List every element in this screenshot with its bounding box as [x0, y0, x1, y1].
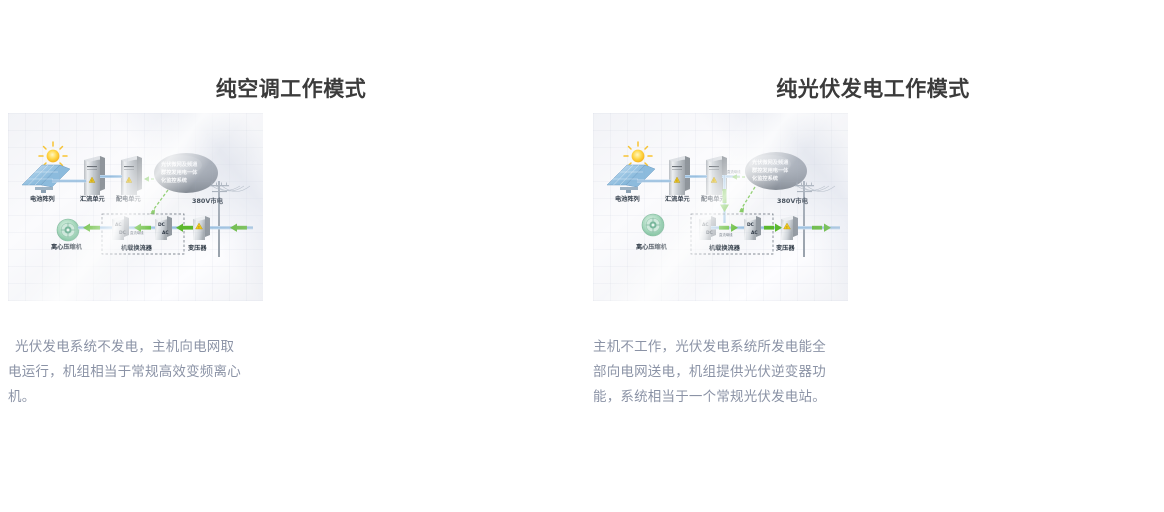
control-system-line-2-2: 群控发用电一体: [752, 166, 789, 174]
converter-port-dc2-2: DC: [747, 222, 754, 228]
label-transformer: 变压器: [188, 244, 207, 252]
converter-port-ac2: AC: [162, 230, 169, 236]
converter-port-dc2: DC: [158, 222, 165, 228]
control-system-line-2: 群控发用电一体: [161, 168, 198, 176]
mode-caption: 光伏发电系统不发电，主机向电网取电运行，机组相当于常规高效变频离心机。: [8, 334, 246, 409]
label-combiner-unit-2: 汇流单元: [665, 195, 691, 203]
flow-arrows-2: [719, 224, 831, 232]
label-centrifugal-compressor-2: 离心压缩机: [636, 243, 668, 251]
control-arrow-head-left: [144, 176, 149, 182]
svg-text:!: !: [714, 179, 715, 183]
svg-text:!: !: [677, 179, 678, 183]
battery-array-icon-2: [607, 142, 655, 193]
label-transformer-2: 变压器: [776, 244, 795, 252]
converter-port-ac: AC: [115, 222, 122, 228]
svg-text:!: !: [129, 179, 130, 183]
label-battery-array: 电池阵列: [30, 195, 55, 203]
svg-text:!: !: [199, 225, 200, 229]
label-centrifugal-compressor: 离心压缩机: [51, 243, 83, 251]
transformer-icon: !: [193, 216, 210, 240]
converter-port-ac-2: AC: [702, 222, 709, 228]
centrifugal-compressor-icon-2: [642, 214, 664, 236]
diagram-pure-pv-generation: 电池阵列 ! 汇流单元: [593, 113, 848, 301]
converter-dc-ac-icon: DC AC: [155, 216, 172, 240]
distribution-unit-icon: !: [121, 156, 142, 195]
label-onboard-converter-2: 机载换流器: [709, 244, 741, 252]
label-dc-bus: 直流母线: [130, 230, 144, 235]
label-utility-grid-2: 380V市电: [777, 196, 809, 205]
control-system-line-3: 化监控系统: [161, 176, 188, 184]
label-distribution-unit: 配电单元: [116, 195, 142, 203]
utility-pole-icon: [210, 181, 250, 257]
converter-ac-dc-icon: AC DC: [112, 216, 129, 240]
svg-text:!: !: [787, 225, 788, 229]
label-onboard-converter: 机载换流器: [121, 244, 153, 252]
diagram-svg-2: 电池阵列 ! 汇流单元: [593, 113, 848, 301]
mode-panel-pure-pv-generation: 纯光伏发电工作模式: [582, 0, 1164, 512]
label-utility-grid: 380V市电: [192, 196, 224, 205]
page-title-2: 纯光伏发电工作模式: [582, 75, 1164, 105]
page-title: 纯空调工作模式: [0, 75, 676, 105]
mode-caption-2: 主机不工作，光伏发电系统所发电能全部向电网送电，机组提供光伏逆变器功能，系统相当…: [593, 334, 831, 409]
centrifugal-compressor-icon: [57, 219, 79, 241]
diagram-pure-air-conditioning: 电池阵列 ! 汇流单元: [8, 113, 263, 301]
control-system-bubble-2: 光伏微网及频通 群控发用电一体 化监控系统: [745, 152, 807, 190]
control-system-line-1: 光伏微网及频通: [160, 160, 198, 168]
label-dc-bus-2: 直流母线: [719, 232, 733, 237]
diagram-svg: 电池阵列 ! 汇流单元: [8, 113, 263, 301]
control-system-line-3-2: 化监控系统: [752, 174, 779, 182]
battery-array-icon: [22, 142, 70, 193]
label-dc-bus-top-2: 直流母线: [727, 169, 741, 174]
control-arrow-head-down-2: [739, 207, 744, 213]
converter-port-dc: DC: [119, 230, 126, 236]
transformer-icon-2: !: [781, 216, 798, 240]
converter-port-dc-2: DC: [706, 230, 713, 236]
mode-panel-pure-air-conditioning: 纯空调工作模式: [0, 0, 582, 512]
converter-dc-ac-icon-2: DC AC: [744, 216, 761, 240]
label-combiner-unit: 汇流单元: [80, 195, 106, 203]
utility-pole-icon-2: [795, 181, 835, 257]
control-system-line-1-2: 光伏微网及频通: [751, 158, 789, 166]
control-system-bubble: 光伏微网及频通 群控发用电一体 化监控系统: [154, 153, 218, 193]
svg-text:!: !: [92, 179, 93, 183]
label-battery-array-2: 电池阵列: [615, 195, 640, 203]
converter-port-ac2-2: AC: [751, 230, 758, 236]
